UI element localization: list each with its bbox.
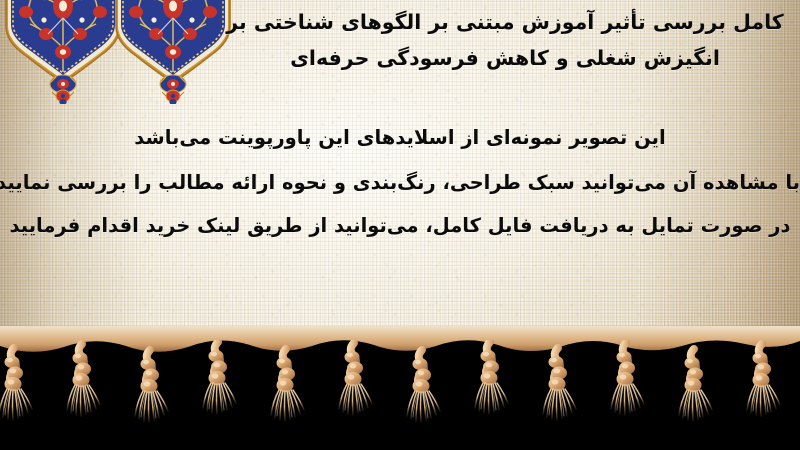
slide-title: کامل بررسی تأثیر آموزش مبتنی بر الگوهای … — [218, 4, 792, 76]
slide-canvas: کامل بررسی تأثیر آموزش مبتنی بر الگوهای … — [0, 0, 800, 450]
body-line-3: در صورت تمایل به دریافت فایل کامل، می‌تو… — [0, 204, 800, 247]
title-line-1: کامل بررسی تأثیر آموزش مبتنی بر الگوهای … — [218, 4, 792, 40]
carpet-fringe-tassels — [0, 332, 800, 450]
body-line-1: این تصویر نمونه‌ای از اسلایدهای این پاور… — [0, 116, 800, 159]
body-line-2: با مشاهده آن می‌توانید سبک طراحی، رنگ‌بن… — [0, 161, 800, 204]
title-line-2: انگیزش شغلی و کاهش فرسودگی حرفه‌ای — [218, 40, 792, 76]
fringe-tassel-row — [0, 340, 800, 444]
slide-body: این تصویر نمونه‌ای از اسلایدهای این پاور… — [0, 116, 800, 247]
